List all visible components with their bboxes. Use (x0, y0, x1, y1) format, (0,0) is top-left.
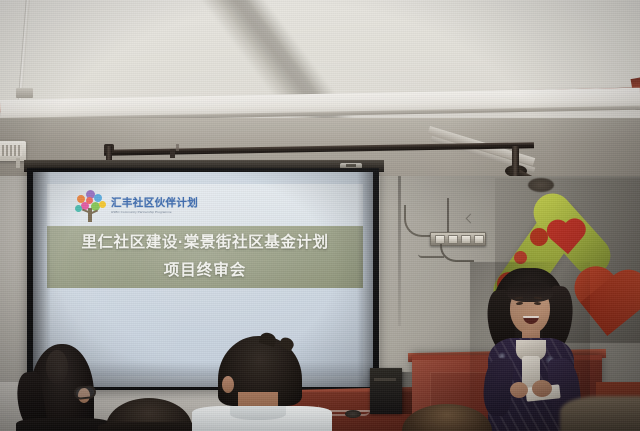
vent-slats-icon (0, 145, 22, 156)
conduit-clip-highlight (176, 144, 179, 151)
power-socket[interactable] (474, 235, 484, 244)
audience-hair (402, 404, 492, 431)
vent-mount-stem (16, 158, 20, 168)
power-socket[interactable] (448, 235, 458, 244)
conduit-clip (170, 149, 175, 158)
audience-hair-highlight (46, 350, 68, 384)
blurred-shoulder (560, 396, 640, 431)
small-dark-object (345, 410, 361, 418)
power-socket[interactable] (461, 235, 471, 244)
man-in-white-shirt (196, 336, 328, 431)
equipment-vent-slot (374, 378, 396, 381)
conduit-bracket (16, 88, 33, 98)
wall-cable-hanging-secondary (418, 254, 444, 258)
conference-room-photo: 汇丰社区伙伴计划 HSBC Community Partnership Prog… (0, 0, 640, 431)
wall-cable-vertical (447, 198, 449, 234)
woman-with-ponytail-and-glasses (16, 342, 108, 431)
audience-shirt-collar (230, 406, 286, 420)
screen-mount-bracket-detail (346, 164, 356, 167)
audience-shoulder-blurred (560, 396, 640, 431)
partial-head-brown-hair (396, 404, 500, 431)
audience-ear (222, 376, 234, 393)
power-socket[interactable] (435, 235, 445, 244)
